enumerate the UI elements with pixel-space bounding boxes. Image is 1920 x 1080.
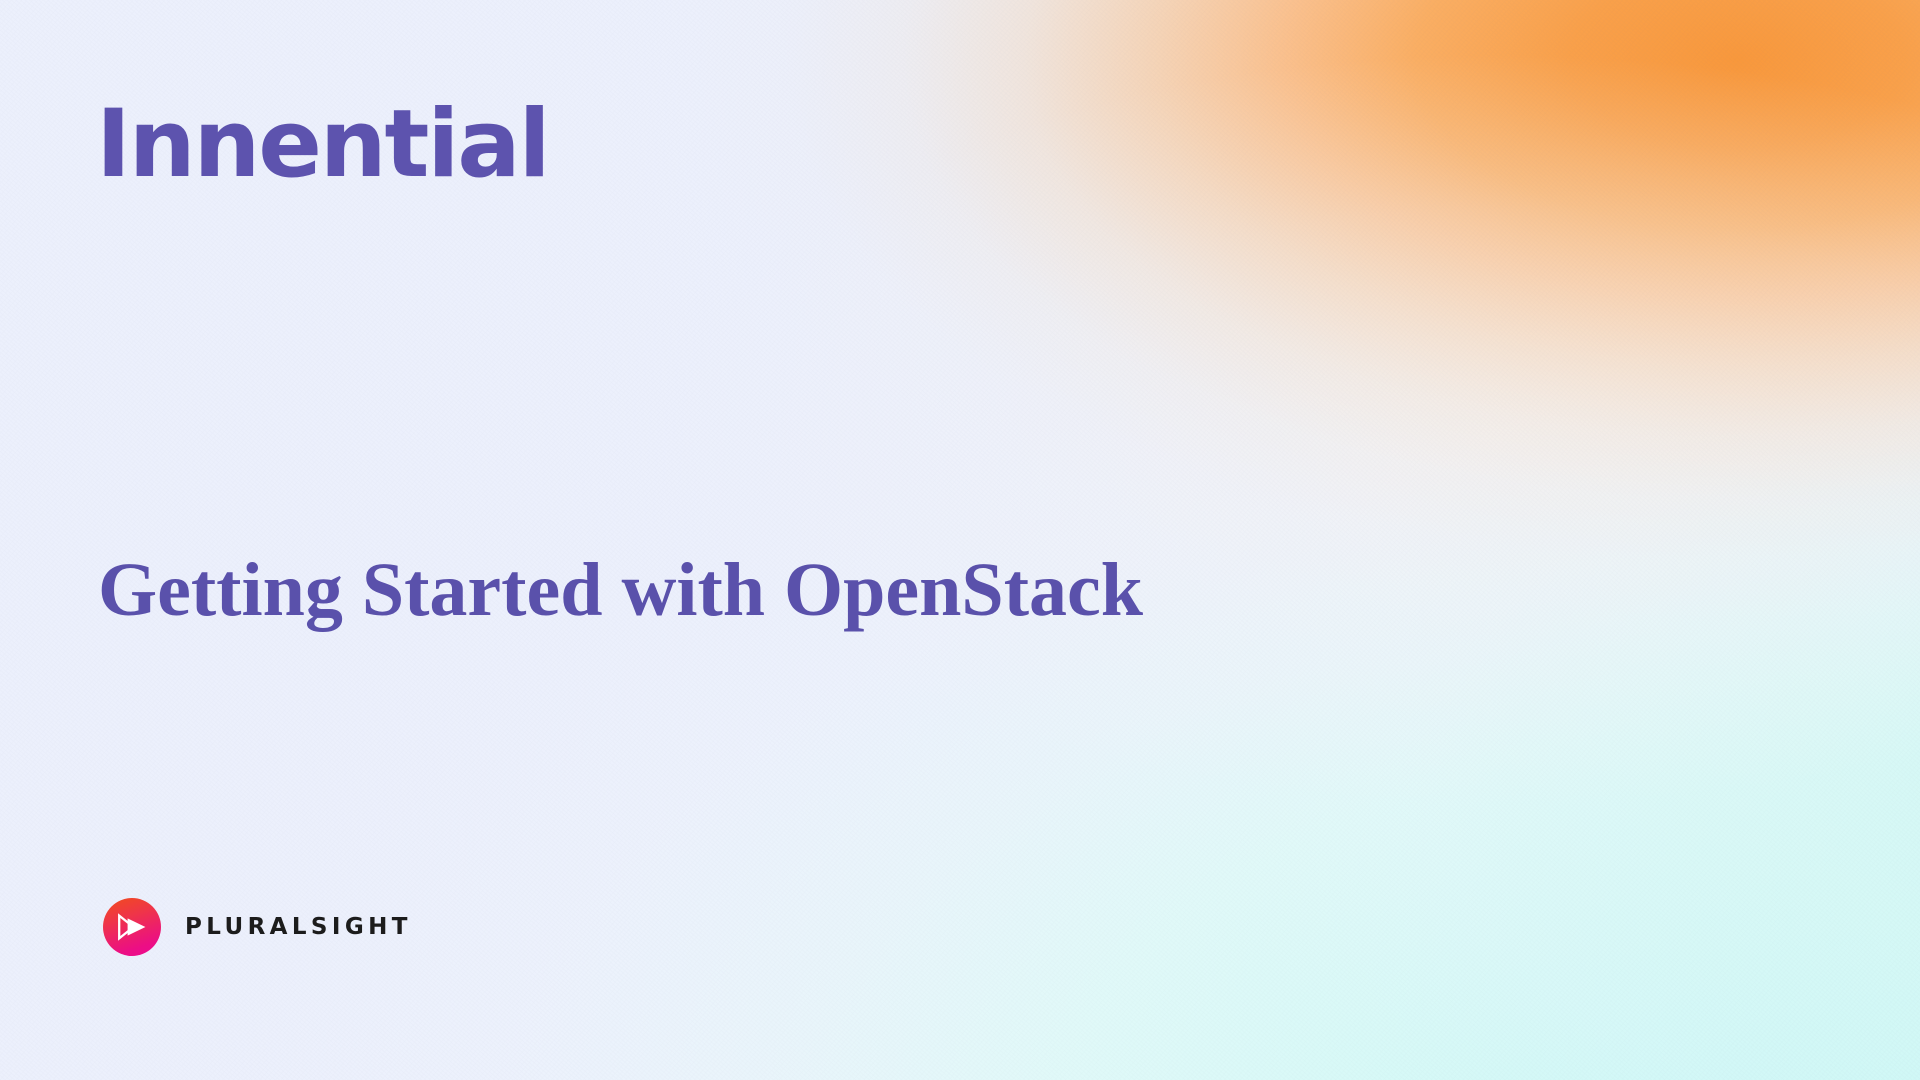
pluralsight-logo-badge: [103, 898, 161, 956]
provider-wordmark-pluralsight: PLURALSIGHT: [185, 916, 412, 939]
course-title-slide: Innential Getting Started with OpenStack…: [0, 0, 1920, 1080]
course-title: Getting Started with OpenStack: [98, 549, 1143, 631]
pluralsight-play-mark-icon: [115, 910, 149, 944]
brand-wordmark-innential: Innential: [96, 98, 549, 192]
provider-lockup: PLURALSIGHT: [103, 898, 412, 956]
slide-content: Innential Getting Started with OpenStack…: [0, 0, 1920, 1080]
